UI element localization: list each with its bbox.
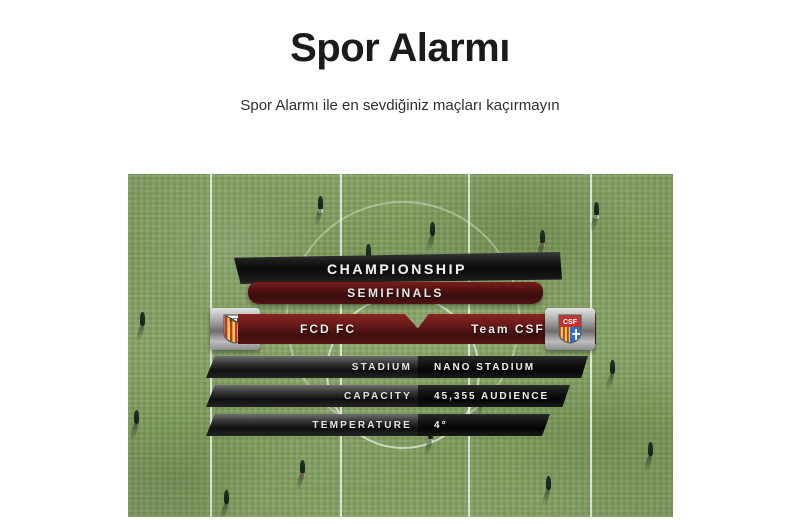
match-details-list: STADIUM NANO STADIUM CAPACITY 45,355 AUD… bbox=[206, 356, 606, 443]
detail-label: CAPACITY bbox=[344, 391, 412, 402]
page-subtitle: Spor Alarmı ile en sevdiğiniz maçları ka… bbox=[0, 96, 800, 116]
detail-value: 45,355 AUDIENCE bbox=[434, 391, 549, 402]
match-promo-image: CHAMPIONSHIP SEMIFINALS bbox=[128, 174, 673, 517]
home-team-name: FCD FC bbox=[300, 322, 356, 336]
competition-label: CHAMPIONSHIP bbox=[327, 261, 467, 277]
teams-row: FCD FCD FC Team CSF bbox=[210, 308, 595, 350]
shield-icon: CSF bbox=[558, 314, 582, 344]
detail-label: STADIUM bbox=[352, 362, 412, 373]
detail-label: TEMPERATURE bbox=[312, 420, 412, 431]
home-team-bar: FCD FC bbox=[238, 314, 432, 344]
detail-row: TEMPERATURE 4° bbox=[206, 414, 606, 436]
away-team-name: Team CSF bbox=[471, 322, 545, 336]
detail-label-bar: STADIUM bbox=[206, 356, 426, 378]
stage-label: SEMIFINALS bbox=[347, 286, 444, 300]
detail-value-bar: 45,355 AUDIENCE bbox=[418, 385, 570, 407]
stage-banner: SEMIFINALS bbox=[248, 282, 543, 304]
detail-value: 4° bbox=[434, 420, 448, 431]
svg-text:CSF: CSF bbox=[563, 319, 578, 326]
detail-row: STADIUM NANO STADIUM bbox=[206, 356, 606, 378]
page-header: Spor Alarmı Spor Alarmı ile en sevdiğini… bbox=[0, 0, 800, 115]
detail-label-bar: CAPACITY bbox=[206, 385, 426, 407]
detail-value-bar: 4° bbox=[418, 414, 550, 436]
detail-row: CAPACITY 45,355 AUDIENCE bbox=[206, 385, 606, 407]
match-info-overlay: CHAMPIONSHIP SEMIFINALS bbox=[128, 174, 673, 517]
competition-banner: CHAMPIONSHIP bbox=[232, 252, 562, 284]
detail-label-bar: TEMPERATURE bbox=[206, 414, 426, 436]
detail-value-bar: NANO STADIUM bbox=[418, 356, 588, 378]
page-title: Spor Alarmı bbox=[0, 26, 800, 71]
away-team-crest: CSF bbox=[545, 308, 595, 350]
detail-value: NANO STADIUM bbox=[434, 362, 535, 373]
